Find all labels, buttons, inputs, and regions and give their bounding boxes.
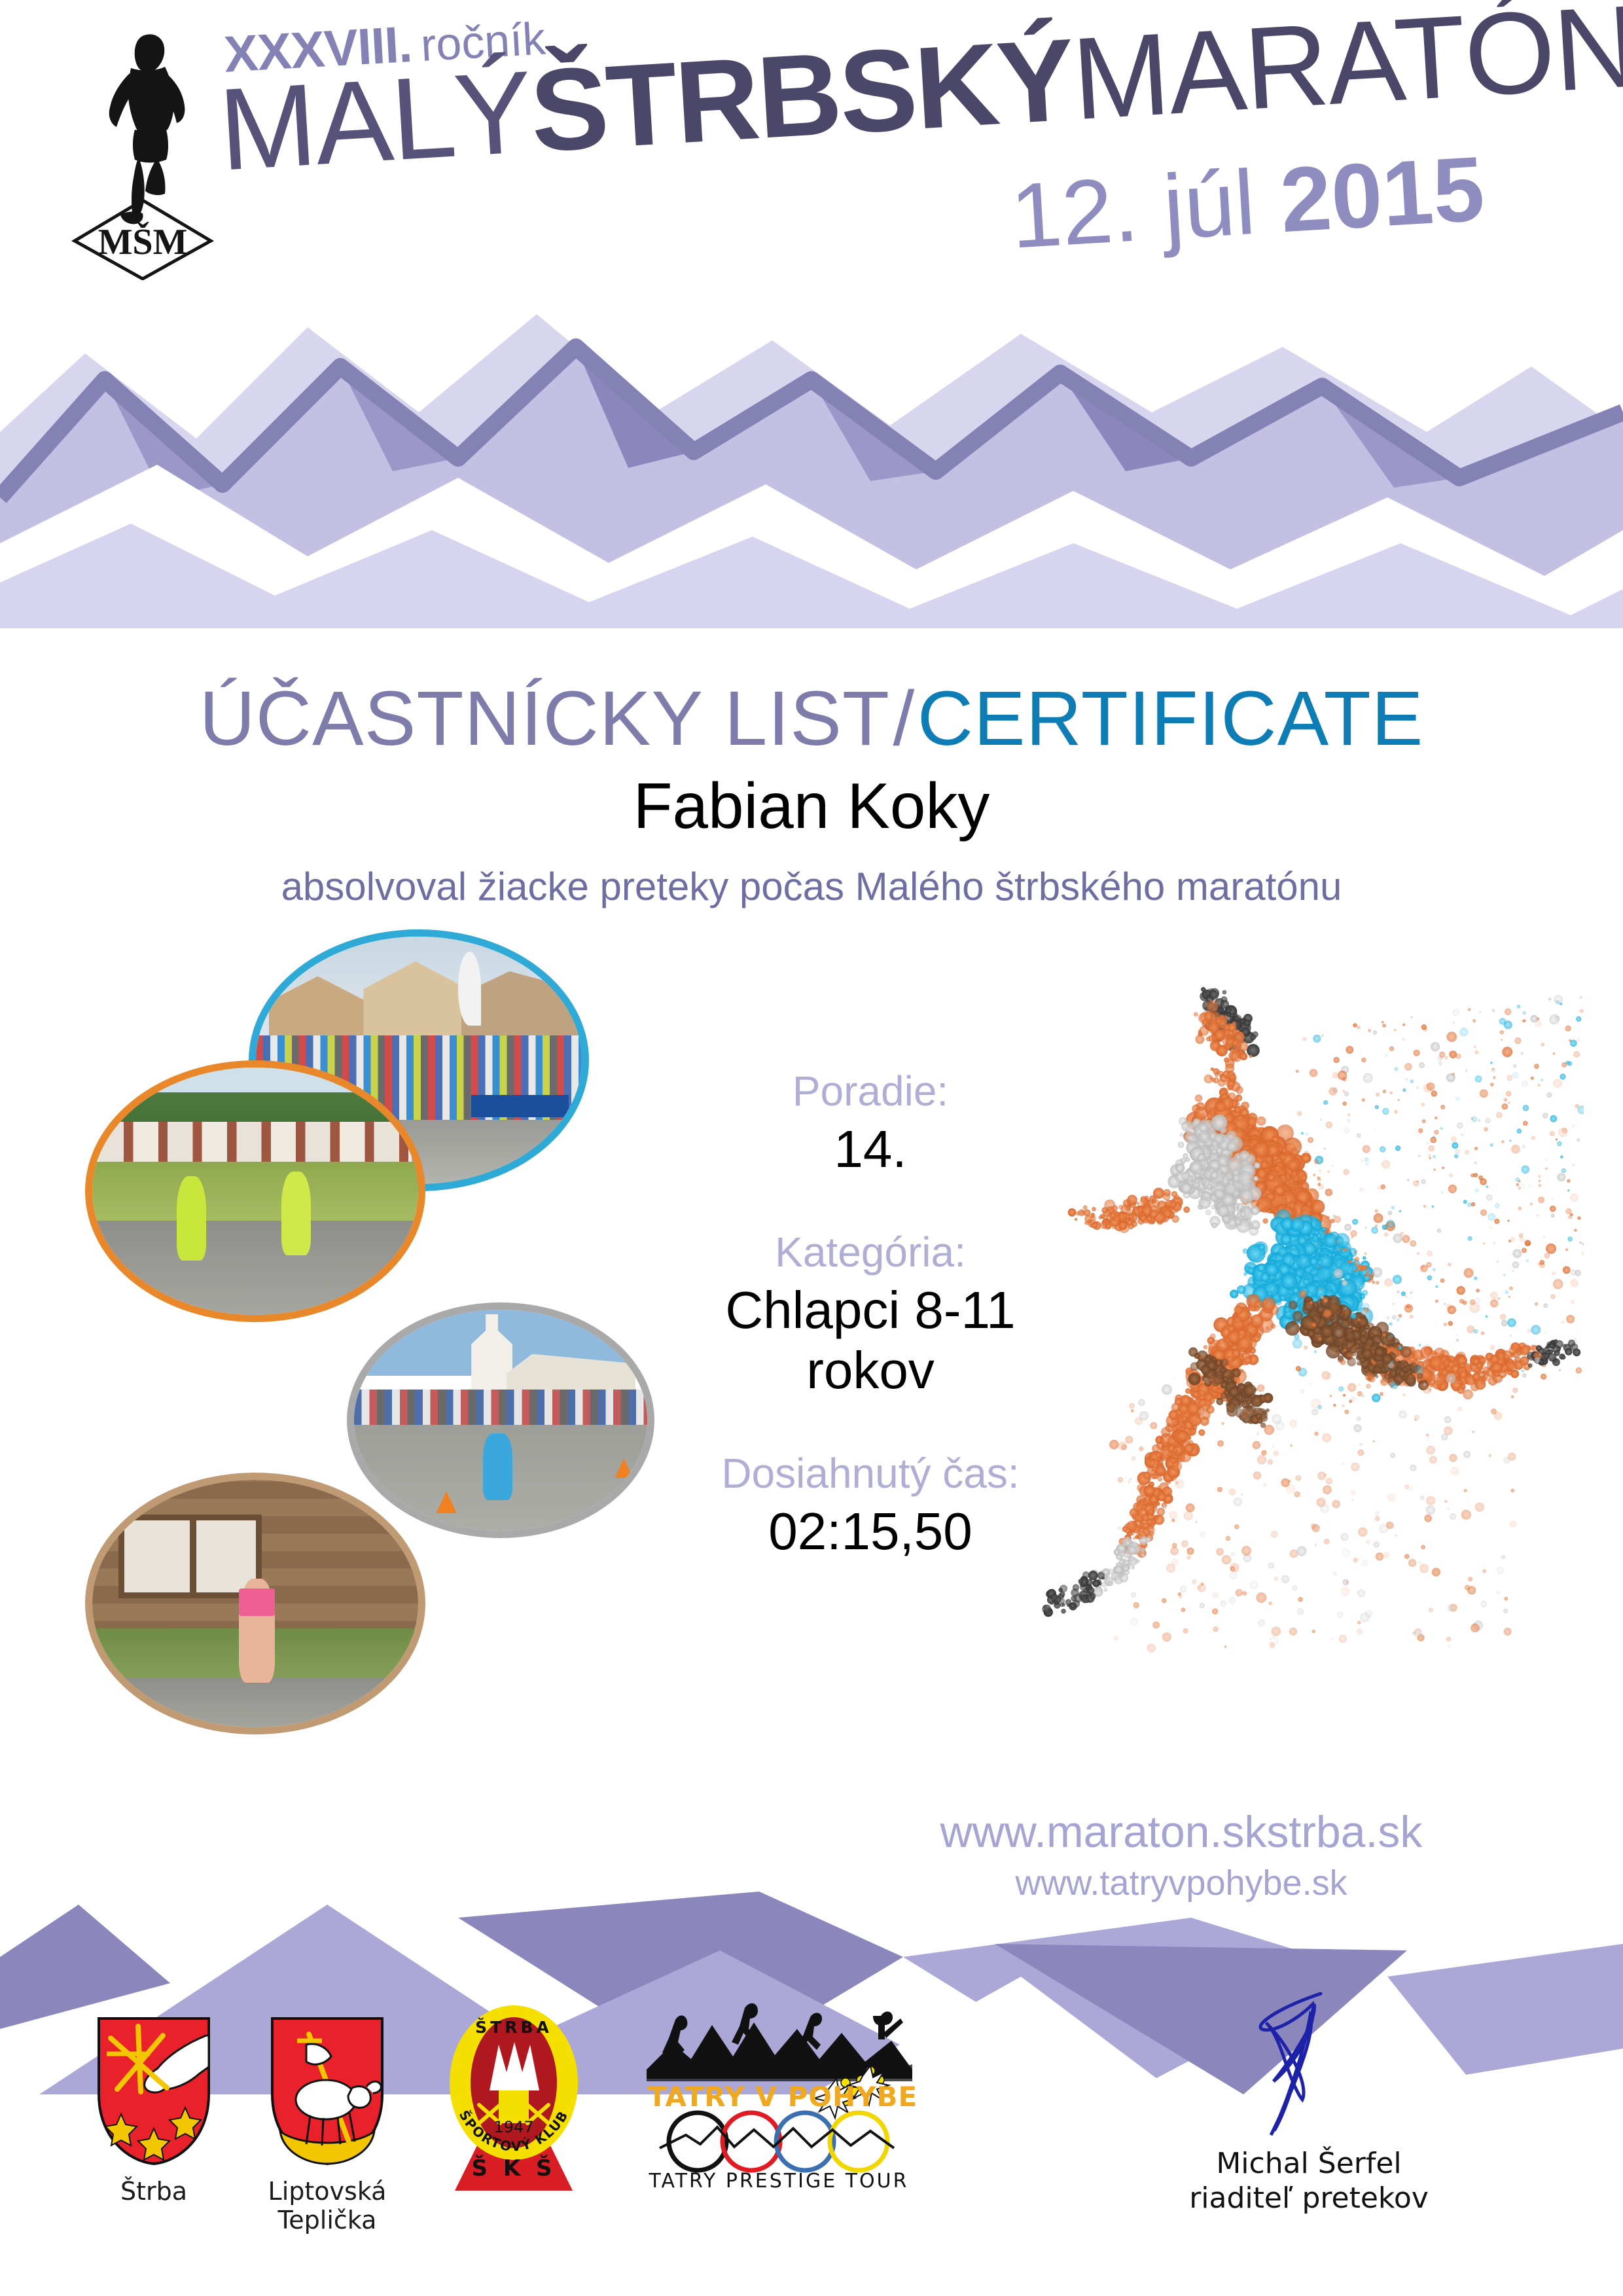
particle-runner-graphic <box>982 956 1584 1728</box>
crest-caption-liptovska-line1: Liptovská <box>268 2177 387 2206</box>
crest-strba-block: Štrba <box>79 2016 229 2206</box>
header-band: MŠM XXXVIII. ročník MALÝŠTRBSKÝMARATÓN 1… <box>0 0 1623 628</box>
participant-description: absolvoval žiacke preteky počas Malého š… <box>0 864 1623 909</box>
photo-two-runners-road <box>85 1060 425 1322</box>
sks-logo-year: 1947 <box>493 2118 533 2136</box>
signature-icon <box>1211 1990 1407 2147</box>
certificate-title-separator: / <box>893 675 914 762</box>
event-date-year: 2015 <box>1277 137 1487 251</box>
sks-logo-initials: Š K Š <box>472 2155 556 2181</box>
certificate-title-en: CERTIFICATE <box>918 675 1424 762</box>
sks-logo-block: ŠTRBA ŠPORTOVÝ KLUB 1947 Š K Š <box>432 2004 596 2197</box>
liptovska-teplicka-coat-of-arms-icon <box>268 2016 386 2166</box>
tatry-prestige-caption: TATRY PRESTIGE TOUR <box>649 2170 909 2193</box>
crest-caption-strba: Štrba <box>79 2178 229 2206</box>
sks-logo-top-text: ŠTRBA <box>475 2017 552 2037</box>
event-title-maly: MALÝ <box>215 46 535 195</box>
event-title-maraton: MARATÓN <box>1069 0 1623 144</box>
certificate-page: MŠM XXXVIII. ročník MALÝŠTRBSKÝMARATÓN 1… <box>0 0 1623 2296</box>
signature-name: Michal Šerfel <box>1126 2147 1492 2181</box>
msm-logo-text: MŠM <box>98 221 188 262</box>
photo-woman-runner-cabin <box>85 1473 425 1734</box>
crest-liptovska-teplicka-block: Liptovská Teplička <box>242 2016 412 2234</box>
crest-caption-liptovska-line2: Teplička <box>278 2206 377 2234</box>
certificate-title-sk: ÚČASTNÍCKY LIST <box>200 675 890 762</box>
strba-coat-of-arms-icon <box>95 2016 213 2166</box>
sks-sport-club-logo-icon: ŠTRBA ŠPORTOVÝ KLUB 1947 Š K Š <box>438 2004 589 2194</box>
tatry-logo-block: TATRY V POHYBE TATRY PRESTIGE TOUR <box>628 1996 929 2196</box>
signature-role: riaditeľ pretekov <box>1126 2181 1492 2216</box>
event-title-strbsky: ŠTRBSKÝ <box>527 14 1077 177</box>
tatry-brand-text: TATRY V POHYBE <box>648 2081 918 2113</box>
msm-logo-icon: MŠM <box>58 25 228 280</box>
url-primary[interactable]: www.maraton.skstrba.sk <box>772 1806 1590 1857</box>
participant-name: Fabian Koky <box>0 769 1623 843</box>
event-date-day: 12. <box>1008 157 1141 267</box>
certificate-title: ÚČASTNÍCKY LIST / CERTIFICATE <box>0 674 1623 763</box>
crest-caption-liptovska: Liptovská Teplička <box>242 2178 412 2234</box>
signature-block: Michal Šerfel riaditeľ pretekov <box>1126 1990 1492 2216</box>
photo-collage <box>85 929 654 1846</box>
tatry-v-pohybe-logo-icon: TATRY V POHYBE TATRY PRESTIGE TOUR <box>635 1996 923 2193</box>
header-mountain-graphic <box>0 216 1623 628</box>
event-date-month: júl <box>1160 151 1258 259</box>
footer: Štrba <box>0 1977 1623 2291</box>
